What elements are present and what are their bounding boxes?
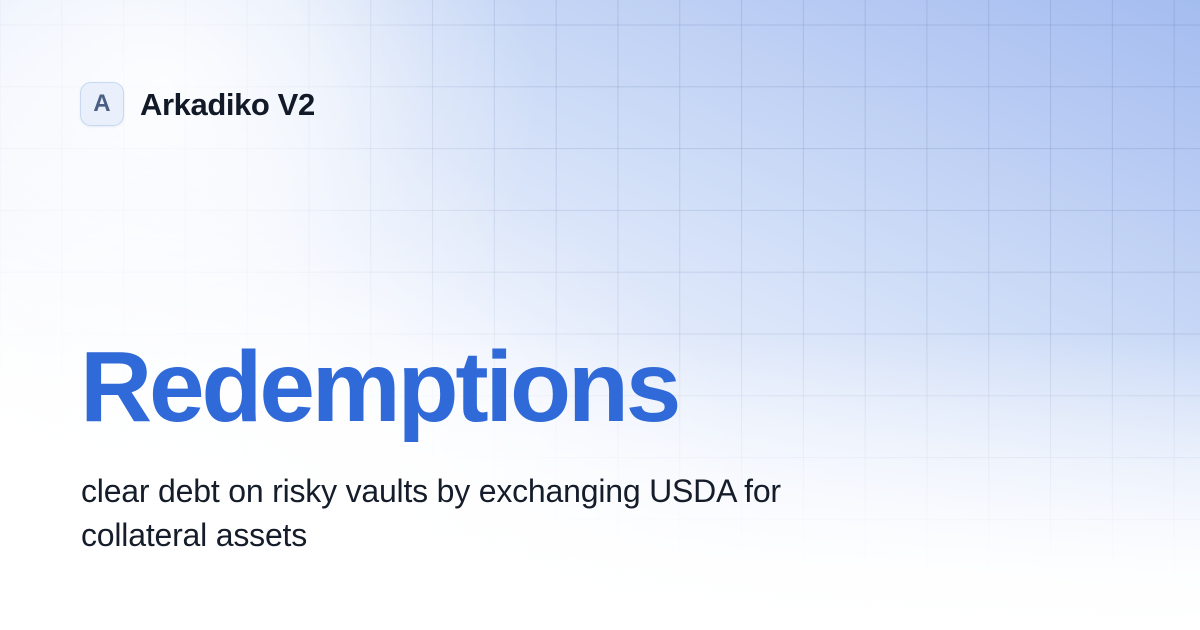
og-preview-card: A Arkadiko V2 Redemptions clear debt on …: [0, 0, 1200, 630]
page-subtitle: clear debt on risky vaults by exchanging…: [81, 470, 811, 557]
page-title: Redemptions: [80, 334, 678, 440]
card-content: A Arkadiko V2 Redemptions clear debt on …: [0, 0, 1200, 630]
brand-name: Arkadiko V2: [140, 89, 315, 120]
brand-lockup: A Arkadiko V2: [80, 82, 315, 126]
brand-logo-letter: A: [93, 92, 111, 116]
brand-logo-icon: A: [80, 82, 124, 126]
headline-block: Redemptions: [80, 334, 678, 440]
